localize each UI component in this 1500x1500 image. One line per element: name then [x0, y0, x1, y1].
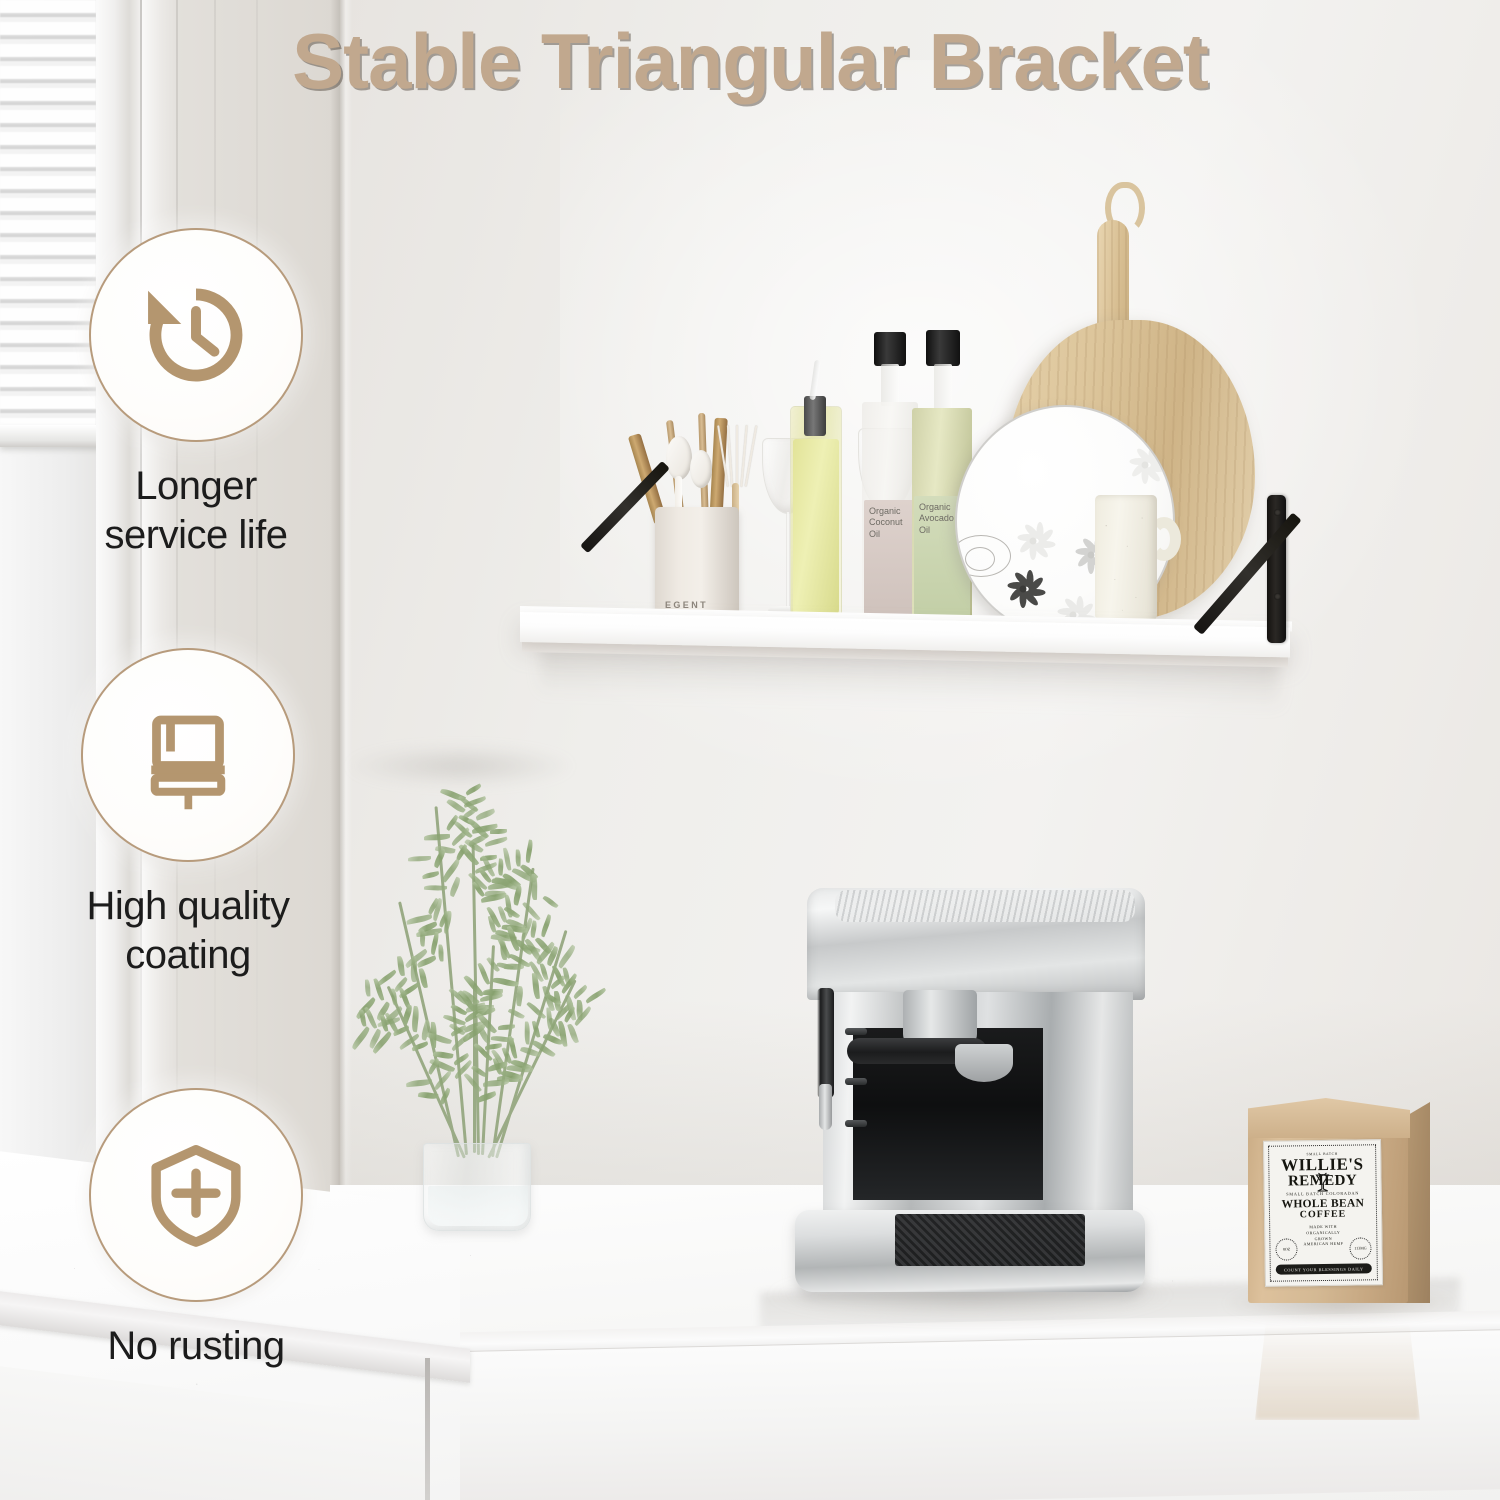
espresso-cup-warmer-top — [807, 888, 1145, 1000]
feature-no-rusting: No rusting — [46, 1088, 346, 1371]
clock-rotate-left-icon — [137, 276, 255, 394]
feature-label: Longer service life — [46, 462, 346, 560]
oil-pourer-spout — [809, 360, 821, 400]
label-line: Coconut — [869, 517, 911, 528]
espresso-portafilter-spout — [955, 1044, 1013, 1082]
espresso-drip-tray-grate — [895, 1214, 1085, 1266]
shield-plus-icon — [138, 1137, 254, 1253]
feature-label-line: No rusting — [46, 1322, 346, 1371]
label-line: Organic — [869, 506, 911, 517]
bracket-screw-hole — [1274, 593, 1281, 600]
feature-label-line: coating — [38, 931, 338, 980]
espresso-cup-tray-grill — [835, 890, 1135, 922]
utensil-crock: EGENT — [655, 507, 739, 619]
made-with-line: AMERICAN HEMP — [1303, 1241, 1343, 1247]
feature-label: No rusting — [46, 1322, 346, 1371]
feature-icon-badge — [89, 1088, 303, 1302]
feature-icon-badge — [89, 228, 303, 442]
white-spoon-head — [690, 450, 712, 488]
coffee-cbd-badge: 113MG — [1349, 1237, 1371, 1259]
feature-label: High quality coating — [38, 882, 338, 980]
olive-branch-arrangement — [345, 745, 645, 1235]
coffee-bag-top-fold — [1248, 1098, 1410, 1138]
coffee-bag: SMALL BATCH WILLIE'S REMEDY SMALL BATCH … — [1248, 1098, 1428, 1303]
espresso-steam-wand — [817, 988, 834, 1098]
feature-label-line: Longer — [46, 462, 346, 511]
made-with-line: ORGANICALLY — [1303, 1230, 1343, 1236]
coconut-oil-label: Organic Coconut Oil — [864, 500, 916, 618]
oil-pourer — [804, 396, 826, 436]
bracket-wall-plate — [1267, 495, 1286, 643]
espresso-steam-wand-tip — [819, 1084, 832, 1130]
bottle-neck — [881, 364, 899, 406]
feature-high-quality-coating: High quality coating — [38, 648, 338, 980]
vase-water — [428, 1186, 528, 1226]
bracket-screw-hole — [1274, 509, 1281, 516]
feature-label-line: High quality — [38, 882, 338, 931]
product-marketing-image: EGENT Organic Coconut — [0, 0, 1500, 1500]
coffee-bag-label: SMALL BATCH WILLIE'S REMEDY SMALL BATCH … — [1263, 1139, 1383, 1287]
espresso-machine — [795, 888, 1145, 1293]
bottle-neck — [934, 364, 952, 412]
cocktail-glass-icon — [1312, 1172, 1332, 1194]
coffee-made-with-block: MADE WITH ORGANICALLY GROWN AMERICAN HEM… — [1303, 1224, 1343, 1248]
glass-vase — [423, 1143, 531, 1231]
white-spoon-head — [666, 436, 692, 480]
coffee-brand-name: WILLIE'S — [1281, 1155, 1364, 1173]
ceramic-mug — [1095, 495, 1173, 623]
espresso-control-knob[interactable] — [845, 1078, 867, 1085]
espresso-control-knob[interactable] — [845, 1120, 867, 1127]
bottle-cap — [926, 330, 960, 366]
espresso-control-knob[interactable] — [845, 1028, 867, 1035]
paint-brush-icon — [132, 699, 244, 811]
label-line: Oil — [869, 529, 911, 540]
page-title: Stable Triangular Bracket — [0, 16, 1500, 107]
plate-swirl — [965, 547, 995, 571]
whisk — [718, 425, 758, 517]
bottle-cap — [874, 332, 906, 366]
mug-body — [1095, 495, 1157, 623]
feature-icon-badge — [81, 648, 295, 862]
shelf-bracket-left — [588, 500, 658, 620]
feature-longer-service-life: Longer service life — [46, 228, 346, 560]
coconut-oil-bottle: Organic Coconut Oil — [862, 332, 918, 620]
coffee-line-2: COFFEE — [1300, 1210, 1347, 1221]
coffee-tagline-banner: COUNT YOUR BLESSINGS DAILY — [1276, 1263, 1372, 1274]
oil-bottle-with-pourer — [790, 360, 842, 618]
coffee-weight-badge: 8OZ — [1275, 1238, 1297, 1260]
shelf-bracket-right — [1204, 495, 1286, 643]
coffee-bag-reflection — [1255, 1300, 1420, 1420]
feature-label-line: service life — [46, 511, 346, 560]
